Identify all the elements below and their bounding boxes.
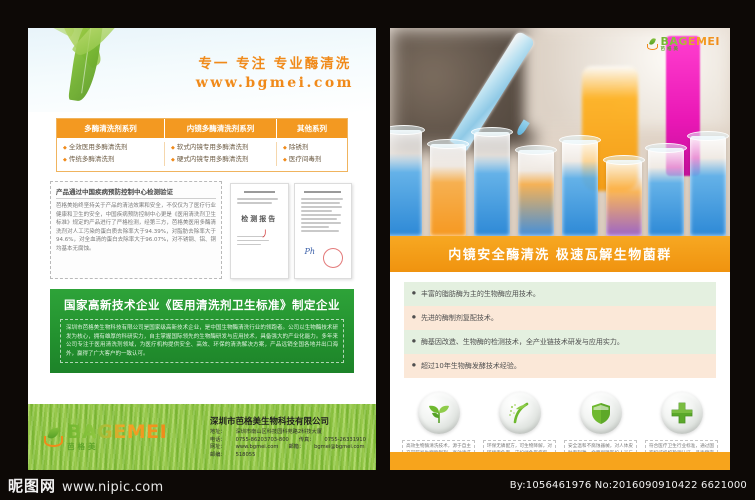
laboratory-photo: BAGEMEI 芭格美 (390, 28, 730, 236)
postcode-value: 518055 (236, 452, 256, 460)
spray-plant-icon (499, 392, 541, 434)
right-flyer-page: BAGEMEI 芭格美 内镜安全酶清洗 极速瓦解生物菌群 丰富的脂肪酶为主的生物… (390, 28, 730, 470)
company-logo[interactable]: BAGEMEI 芭格美 (44, 423, 194, 451)
product-column-row: 全效医用多酶清洗剂 传统多酶清洗剂 软式内镜专用多酶清洗剂 硬式内镜专用多酶清洗… (57, 138, 347, 171)
certificate-signature-icon: Ph (305, 247, 316, 256)
product-tab-enzyme-cleaners[interactable]: 多酶清洗剂系列 (57, 119, 165, 138)
watermark-credit: By:1056461976 No:2016090910422 6621000 (510, 480, 747, 491)
tel-value: 0755-86203703-800 (236, 437, 289, 445)
logo-chinese-name: 芭格美 (661, 48, 721, 53)
contact-block: 深圳市芭格美生物科技有限公司 地址： 深圳市南山区科技园科苑路2科技大厦 电话：… (210, 415, 366, 459)
fax-value: 0755-26331910 (324, 437, 365, 445)
product-column-1: 全效医用多酶清洗剂 传统多酶清洗剂 (57, 142, 165, 166)
poster-stage: 专一 专注 专业酶清洗 www.bgmei.com 多酶清洗剂系列 内镜多酶清洗… (0, 0, 755, 500)
company-name: 深圳市芭格美生物科技有限公司 (210, 415, 366, 427)
sprout-icon (418, 392, 460, 434)
national-enterprise-banner: 国家高新技术企业《医用清洗剂卫生标准》制定企业 深圳市芭格美生物科技有限公司是国… (50, 289, 354, 373)
bagemei-leaf-cup-icon (44, 427, 64, 447)
certificate-2[interactable]: Ph (294, 183, 353, 279)
website-url[interactable]: www.bgmei.com (196, 75, 354, 91)
product-item[interactable]: 除锈剂 (281, 142, 343, 154)
product-tab-row: 多酶清洗剂系列 内镜多酶清洗剂系列 其他系列 (57, 119, 347, 138)
watermark-bar: 昵图网 www.nipic.com By:1056461976 No:20160… (0, 470, 755, 500)
product-series-table: 多酶清洗剂系列 内镜多酶清洗剂系列 其他系列 全效医用多酶清洗剂 传统多酶清洗剂… (56, 118, 348, 172)
medical-cross-icon (661, 392, 703, 434)
headline-banner: 内镜安全酶清洗 极速瓦解生物菌群 (390, 236, 730, 272)
contact-postcode-line: 邮编： 518055 (210, 452, 366, 460)
fax-label: 传真： (299, 437, 315, 445)
test-report-text-block: 产品通过中国疾病预防控制中心检测验证 芭格美始终坚持关于产品的清洁效果和安全，不… (50, 181, 222, 279)
grass-footer-background: BAGEMEI 芭格美 深圳市芭格美生物科技有限公司 地址： 深圳市南山区科技园… (28, 404, 376, 470)
test-tube-row (390, 124, 730, 236)
tagline-text: 专一 专注 专业酶清洗 (196, 52, 354, 72)
product-item[interactable]: 医疗间毒剂 (281, 154, 343, 166)
contact-address-line: 地址： 深圳市南山区科技园科苑路2科技大厦 (210, 429, 366, 437)
web-value[interactable]: www.bgmei.com (236, 444, 279, 452)
certificate-red-mark-icon: 丿 (260, 227, 269, 240)
tel-label: 电话： (210, 437, 226, 445)
product-item[interactable]: 传统多酶清洗剂 (61, 154, 160, 166)
product-item[interactable]: 硬式内镜专用多酶清洗剂 (169, 154, 272, 166)
feature-bullet-list: 丰富的脂肪酶为主的生物酶应用技术。 先进的酶制剂复配技术。 酶基因改造、生物酶的… (404, 282, 716, 378)
bagemei-leaf-cup-icon (647, 38, 659, 50)
left-header: 专一 专注 专业酶清洗 www.bgmei.com (28, 28, 376, 112)
watermark-site-url[interactable]: www.nipic.com (62, 480, 164, 495)
shield-icon (580, 392, 622, 434)
logo-wordmark: BAGEMEI (661, 36, 721, 47)
product-item[interactable]: 全效医用多酶清洗剂 (61, 142, 160, 154)
company-logo-overlay[interactable]: BAGEMEI 芭格美 (647, 36, 721, 53)
product-item[interactable]: 软式内镜专用多酶清洗剂 (169, 142, 272, 154)
tagline-block: 专一 专注 专业酶清洗 www.bgmei.com (196, 52, 354, 91)
postcode-label: 邮编： (210, 452, 226, 460)
email-label: 邮箱： (288, 444, 304, 452)
product-tab-endoscope-cleaners[interactable]: 内镜多酶清洗剂系列 (165, 119, 277, 138)
web-label: 网址： (210, 444, 226, 452)
product-tab-others[interactable]: 其他系列 (277, 119, 347, 138)
left-flyer-page: 专一 专注 专业酶清洗 www.bgmei.com 多酶清洗剂系列 内镜多酶清洗… (28, 28, 376, 470)
address-value: 深圳市南山区科技园科苑路2科技大厦 (236, 429, 322, 437)
certificate-images: 检测报告 丿 Ph (230, 181, 352, 279)
address-label: 地址： (210, 429, 226, 437)
bullet-item: 丰富的脂肪酶为主的生物酶应用技术。 (404, 282, 716, 306)
green-banner-title: 国家高新技术企业《医用清洗剂卫生标准》制定企业 (60, 297, 344, 313)
contact-tel-line: 电话： 0755-86203703-800 传真： 0755-26331910 (210, 437, 366, 445)
test-report-title: 产品通过中国疾病预防控制中心检测验证 (56, 186, 216, 199)
document-and-certificates-row: 产品通过中国疾病预防控制中心检测验证 芭格美始终坚持关于产品的清洁效果和安全，不… (50, 181, 352, 279)
email-value[interactable]: bgmei@bgmei.com (314, 444, 364, 452)
logo-chinese-name: 芭格美 (67, 443, 167, 451)
watermark-site-cn: 昵图网 (8, 475, 56, 496)
test-report-body: 芭格美始终坚持关于产品的清洁效果和安全，不仅仅为了医疗行业健康和卫生的安全，中国… (56, 202, 216, 253)
bullet-item: 超过10年生物酶发酵技术经验。 (404, 354, 716, 378)
product-column-3: 除锈剂 医疗间毒剂 (277, 142, 347, 166)
product-column-2: 软式内镜专用多酶清洗剂 硬式内镜专用多酶清洗剂 (165, 142, 277, 166)
headline-text: 内镜安全酶清洗 极速瓦解生物菌群 (390, 244, 730, 263)
certificate-1[interactable]: 检测报告 丿 (230, 183, 289, 279)
contact-web-line: 网址： www.bgmei.com 邮箱： bgmei@bgmei.com (210, 444, 366, 452)
bullet-item: 酶基因改造、生物酶的检测技术，全产业链技术研发与应用实力。 (404, 330, 716, 354)
certificate-1-title: 检测报告 (237, 214, 282, 224)
certificate-seal-icon (321, 246, 345, 270)
logo-wordmark: BAGEMEI (67, 423, 167, 442)
right-orange-footer-bar (390, 452, 730, 470)
bullet-item: 先进的酶制剂复配技术。 (404, 306, 716, 330)
green-banner-body: 深圳市芭格美生物科技有限公司是国家级高新技术企业，是中国生物酶清洗行业的领跑者。… (60, 319, 344, 363)
watermark-site: 昵图网 www.nipic.com (8, 475, 164, 496)
leaf-decoration-icon (28, 28, 172, 112)
